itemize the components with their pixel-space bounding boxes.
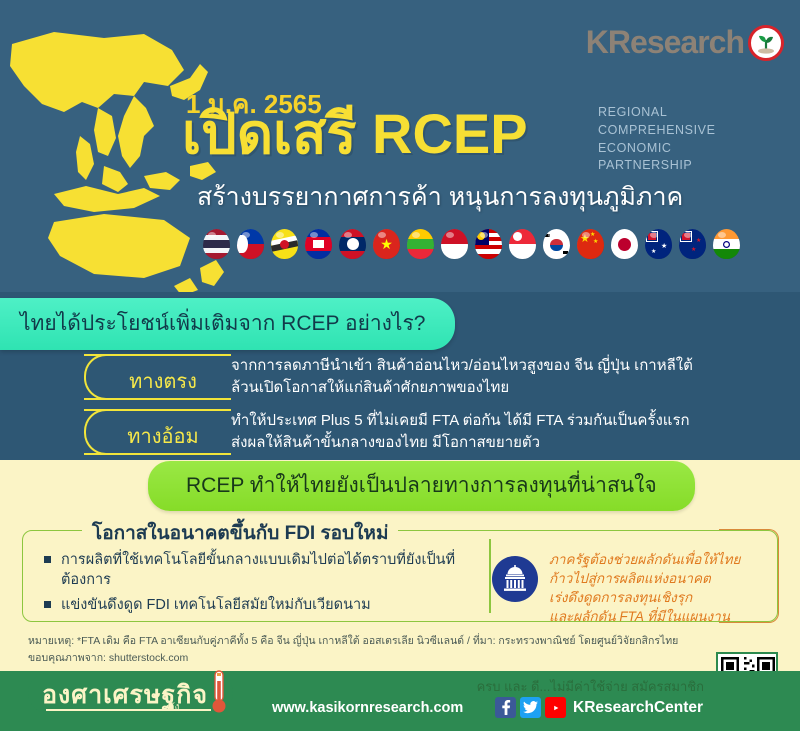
flag-malaysia bbox=[475, 229, 502, 259]
flag-philippines bbox=[237, 229, 264, 259]
facebook-icon[interactable] bbox=[495, 697, 516, 718]
kresearch-logo: KResearch bbox=[586, 24, 784, 61]
flag-australia: ★ ★ bbox=[645, 229, 672, 259]
section-question-banner: ไทยได้ประโยชน์เพิ่มเติมจาก RCEP อย่างไร? bbox=[0, 298, 455, 350]
gov-note-line-4: และผลักดัน FTA ที่มีในแผนงาน bbox=[549, 607, 740, 626]
footnote-source: หมายเหตุ: *FTA เดิม คือ FTA อาเซียนกับคู… bbox=[28, 633, 678, 650]
acronym-line-economic: ECONOMIC bbox=[598, 140, 716, 158]
government-note: ภาครัฐต้องช่วยผลักดันเพื่อให้ไทย ก้าวไปส… bbox=[549, 550, 740, 627]
hero-subtitle: สร้างบรรยากาศการค้า หนุนการลงทุนภูมิภาค bbox=[197, 177, 683, 217]
list-item: แข่งขันดึงดูด FDI เทคโนโลยีสมัยใหม่กับเว… bbox=[44, 595, 464, 615]
benefit-row-direct: ทางตรง จากการลดภาษีนำเข้า สินค้าอ่อนไหว/… bbox=[26, 354, 693, 400]
footnotes: หมายเหตุ: *FTA เดิม คือ FTA อาเซียนกับคู… bbox=[28, 633, 678, 668]
youtube-icon[interactable] bbox=[545, 697, 566, 718]
benefit-tag-direct: ทางตรง bbox=[26, 354, 231, 400]
flag-japan bbox=[611, 229, 638, 259]
logo-subtext: ดัง bbox=[168, 700, 179, 715]
page-title: เปิดเสรี RCEP bbox=[182, 106, 528, 162]
member-flags-row: ★ ★ ★ bbox=[203, 229, 740, 259]
social-links: KResearchCenter bbox=[495, 697, 703, 718]
rcep-acronym: REGIONAL COMPREHENSIVE ECONOMIC PARTNERS… bbox=[598, 104, 716, 175]
benefit-text-direct: จากการลดภาษีนำเข้า สินค้าอ่อนไหว/อ่อนไหว… bbox=[231, 354, 693, 399]
footnote-credit: ขอบคุณภาพจาก: shutterstock.com bbox=[28, 650, 678, 667]
seedling-icon bbox=[748, 25, 784, 61]
benefit-tag-label: ทางตรง bbox=[98, 365, 228, 397]
gov-note-line-1: ภาครัฐต้องช่วยผลักดันเพื่อให้ไทย bbox=[549, 550, 740, 569]
flag-brunei bbox=[271, 229, 298, 259]
gov-note-line-2: ก้าวไปสู่การผลิตแห่งอนาคต bbox=[549, 569, 740, 588]
flag-south-korea bbox=[543, 229, 570, 259]
acronym-line-comprehensive: COMPREHENSIVE bbox=[598, 122, 716, 140]
membership-promo: ครบ และ ดี...ไม่มีค่าใช้จ่าย สมัครสมาชิก bbox=[477, 676, 704, 697]
list-item: การผลิตที่ใช้เทคโนโลยีขั้นกลางแบบเดิมไปต… bbox=[44, 550, 464, 591]
benefit-line-1: ทำให้ประเทศ Plus 5 ที่ไม่เคยมี FTA ต่อกั… bbox=[231, 410, 690, 432]
logo-underline bbox=[46, 709, 211, 711]
fdi-bullet-list: การผลิตที่ใช้เทคโนโลยีขั้นกลางแบบเดิมไปต… bbox=[44, 550, 464, 619]
flag-india bbox=[713, 229, 740, 259]
logo-wordmark: KResearch bbox=[586, 24, 744, 61]
benefit-line-2: ล้วนเปิดโอกาสให้แก่สินค้าศักยภาพของไทย bbox=[231, 377, 693, 399]
acronym-line-regional: REGIONAL bbox=[598, 104, 716, 122]
flag-thailand bbox=[203, 229, 230, 259]
thermometer-icon bbox=[210, 669, 228, 715]
twitter-icon[interactable] bbox=[520, 697, 541, 718]
flag-myanmar bbox=[407, 229, 434, 259]
highlight-banner: RCEP ทำให้ไทยยังเป็นปลายทางการลงทุนที่น่… bbox=[148, 461, 695, 511]
flag-new-zealand: ★ ★ bbox=[679, 229, 706, 259]
social-handle: KResearchCenter bbox=[573, 699, 703, 717]
fdi-title: โอกาสในอนาคตขึ้นกับ FDI รอบใหม่ bbox=[82, 518, 398, 548]
gov-note-line-3: เร่งดึงดูดการลงทุนเชิงรุก bbox=[549, 588, 740, 607]
acronym-line-partnership: PARTNERSHIP bbox=[598, 157, 716, 175]
flag-indonesia bbox=[441, 229, 468, 259]
flag-laos bbox=[339, 229, 366, 259]
flag-vietnam: ★ bbox=[373, 229, 400, 259]
benefit-tag-indirect: ทางอ้อม bbox=[26, 409, 231, 455]
flag-cambodia bbox=[305, 229, 332, 259]
benefit-text-indirect: ทำให้ประเทศ Plus 5 ที่ไม่เคยมี FTA ต่อกั… bbox=[231, 409, 690, 454]
government-building-icon bbox=[492, 556, 538, 602]
fdi-divider bbox=[489, 539, 491, 613]
ongsa-settakij-logo: องศาเศรษฐกิจ ดัง bbox=[18, 669, 254, 719]
benefit-line-2: ส่งผลให้สินค้าขั้นกลางของไทย มีโอกาสขยาย… bbox=[231, 432, 690, 454]
flag-singapore bbox=[509, 229, 536, 259]
website-url[interactable]: www.kasikornresearch.com bbox=[272, 700, 463, 716]
benefit-tag-label: ทางอ้อม bbox=[98, 420, 228, 452]
flag-china: ★ ★ ★ bbox=[577, 229, 604, 259]
benefit-row-indirect: ทางอ้อม ทำให้ประเทศ Plus 5 ที่ไม่เคยมี F… bbox=[26, 409, 690, 455]
hero-banner: KResearch 1 ม.ค. 2565 เปิดเสรี RCEP REGI… bbox=[0, 0, 800, 292]
benefit-line-1: จากการลดภาษีนำเข้า สินค้าอ่อนไหว/อ่อนไหว… bbox=[231, 355, 693, 377]
